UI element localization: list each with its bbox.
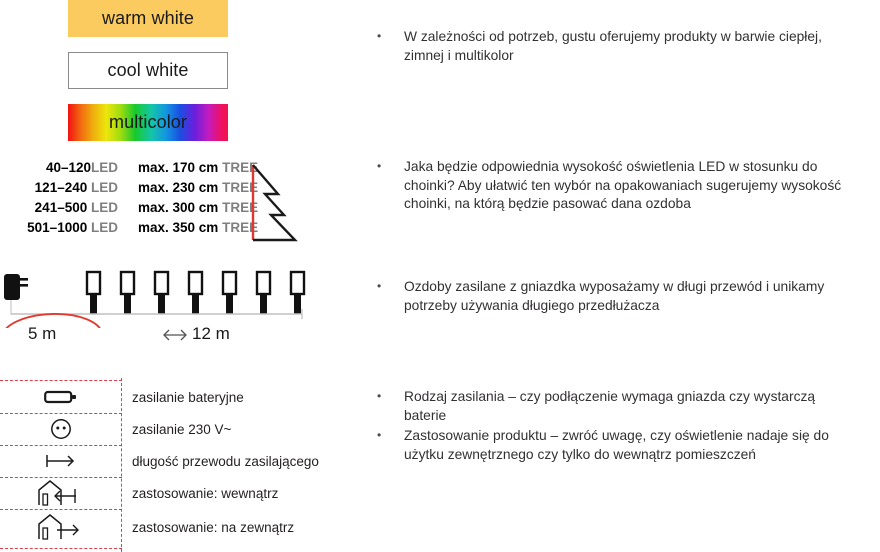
legend-row-indoor: zastosowanie: wewnątrz	[0, 477, 345, 509]
led-count-value: 241–500	[35, 200, 88, 215]
led-count-cell: 40–120LED	[0, 158, 120, 178]
table-row: 121–240 LED max. 230 cm TREE	[0, 178, 258, 198]
list-item: Jaka będzie odpowiednia wysokość oświetl…	[363, 158, 880, 214]
table-row: 501–1000 LED max. 350 cm TREE	[0, 218, 258, 238]
badge-multicolor: multicolor	[68, 104, 228, 141]
bullet-group: W zależności od potrzeb, gustu oferujemy…	[363, 28, 880, 67]
led-count-cell: 241–500 LED	[0, 198, 120, 218]
led-count-value: 40–120	[46, 160, 91, 175]
legend-table: zasilanie bateryjne zasilanie 230 V~	[0, 378, 345, 552]
power-plug-icon	[4, 274, 28, 300]
bulb-group	[87, 272, 304, 314]
legend-label-cable-length: długość przewodu zasilającego	[121, 454, 319, 469]
lead-length-label: 5 m	[28, 324, 56, 344]
table-row: 241–500 LED max. 300 cm TREE	[0, 198, 258, 218]
list-item: Zastosowanie produktu – zwróć uwagę, czy…	[363, 427, 880, 464]
led-count-unit: LED	[91, 220, 118, 235]
legend-rule	[0, 509, 122, 510]
badge-warm-white-label: warm white	[102, 8, 194, 29]
legend-label-outdoor: zastosowanie: na zewnątrz	[121, 520, 294, 535]
led-count-unit: LED	[91, 180, 118, 195]
bullet-line: W zależności od potrzeb, gustu oferujemy…	[404, 28, 880, 47]
house-indoor-icon	[0, 478, 121, 508]
led-count-cell: 121–240 LED	[0, 178, 120, 198]
tree-height-value: max. 230 cm	[138, 180, 218, 195]
badge-cool-white: cool white	[68, 52, 228, 89]
legend-label-indoor: zastosowanie: wewnątrz	[121, 486, 278, 501]
light-string-svg	[0, 268, 320, 328]
bullet-group: Jaka będzie odpowiednia wysokość oświetl…	[363, 158, 880, 216]
tree-height-value: max. 300 cm	[138, 200, 218, 215]
bullet-line: użytku zewnętrznego czy tylko do wewnątr…	[404, 446, 880, 465]
bullet-line: choinki? Aby ułatwić ten wybór na opakow…	[404, 177, 880, 196]
tree-height-cell: max. 300 cm TREE	[120, 198, 258, 218]
bullet-group: Ozdoby zasilane z gniazdka wyposażamy w …	[363, 278, 880, 317]
tree-height-value: max. 350 cm	[138, 220, 218, 235]
bullet-line: zimnej i multikolor	[404, 47, 880, 66]
right-text-column: W zależności od potrzeb, gustu oferujemy…	[363, 0, 880, 552]
legend-label-battery: zasilanie bateryjne	[121, 390, 244, 405]
bullet-line: choinki, na którą będzie pasować dana oz…	[404, 195, 880, 214]
bullet-line: Rodzaj zasilania – czy podłączenie wymag…	[404, 388, 880, 407]
tree-height-value: max. 170 cm	[138, 160, 218, 175]
legend-row-mains: zasilanie 230 V~	[0, 413, 345, 445]
left-illustration-column: warm white cool white multicolor 40–120L…	[0, 0, 345, 552]
string-length-label: 12 m	[192, 324, 230, 344]
badge-multicolor-label: multicolor	[109, 112, 187, 133]
badge-warm-white: warm white	[68, 0, 228, 37]
list-item: Ozdoby zasilane z gniazdka wyposażamy w …	[363, 278, 880, 315]
list-item: W zależności od potrzeb, gustu oferujemy…	[363, 28, 880, 65]
bullet-line: potrzeby używania długiego przedłużacza	[404, 297, 880, 316]
legend-row-battery: zasilanie bateryjne	[0, 381, 345, 413]
badge-cool-white-label: cool white	[107, 60, 188, 81]
led-height-table-block: 40–120LED max. 170 cm TREE 121–240 LED m…	[0, 158, 330, 248]
tree-height-cell: max. 350 cm TREE	[120, 218, 258, 238]
power-socket-icon	[0, 417, 121, 441]
led-count-unit: LED	[91, 160, 118, 175]
led-height-table: 40–120LED max. 170 cm TREE 121–240 LED m…	[0, 158, 258, 238]
bullet-group: Rodzaj zasilania – czy podłączenie wymag…	[363, 388, 880, 466]
table-row: 40–120LED max. 170 cm TREE	[0, 158, 258, 178]
legend-row-outdoor: zastosowanie: na zewnątrz	[0, 511, 345, 543]
light-string-diagram: 5 m 12 m	[0, 268, 330, 368]
list-item: Rodzaj zasilania – czy podłączenie wymag…	[363, 388, 880, 425]
bullet-line: Ozdoby zasilane z gniazdka wyposażamy w …	[404, 278, 880, 297]
legend-label-mains: zasilanie 230 V~	[121, 422, 231, 437]
tree-height-cell: max. 170 cm TREE	[120, 158, 258, 178]
bullet-line: baterie	[404, 407, 880, 426]
led-count-value: 501–1000	[27, 220, 87, 235]
battery-icon	[0, 389, 121, 405]
led-count-cell: 501–1000 LED	[0, 218, 120, 238]
cable-length-icon	[0, 453, 121, 469]
house-outdoor-icon	[0, 512, 121, 542]
led-count-value: 121–240	[35, 180, 88, 195]
christmas-tree-icon	[248, 162, 308, 246]
led-count-unit: LED	[91, 200, 118, 215]
bullet-line: Zastosowanie produktu – zwróć uwagę, czy…	[404, 427, 880, 446]
color-badge-list: warm white cool white multicolor	[0, 0, 300, 156]
legend-rule	[0, 548, 122, 549]
tree-height-cell: max. 230 cm TREE	[120, 178, 258, 198]
legend-row-cable-length: długość przewodu zasilającego	[0, 445, 345, 477]
bullet-line: Jaka będzie odpowiednia wysokość oświetl…	[404, 158, 880, 177]
double-arrow-icon	[160, 328, 190, 342]
